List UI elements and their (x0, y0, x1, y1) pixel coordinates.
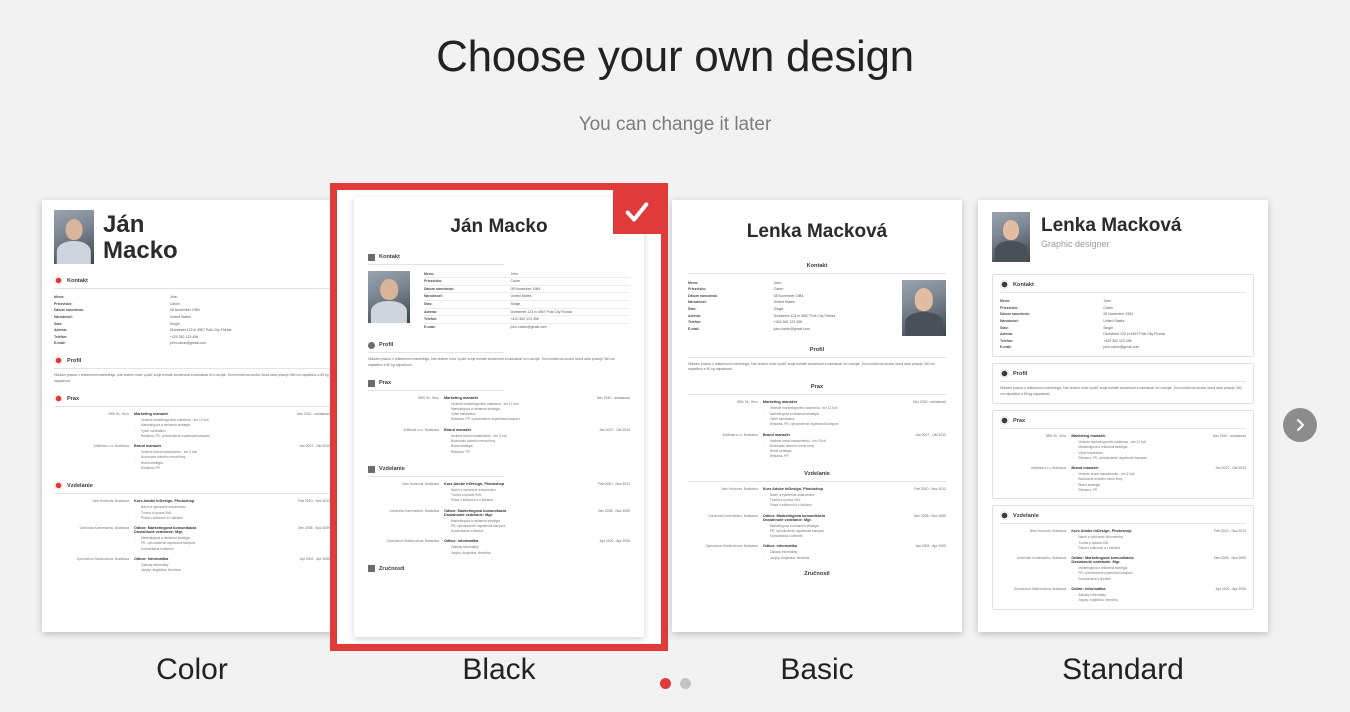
avatar (902, 280, 946, 336)
skills-icon (368, 565, 375, 572)
profile-icon (1000, 369, 1009, 378)
template-card-black[interactable]: Ján Macko Kontakt Meno:John Priezvisko:C… (330, 183, 668, 653)
contact-icon (54, 276, 63, 285)
contact-icon (1000, 280, 1009, 289)
section-header-kontakt: Kontakt (688, 263, 946, 269)
education-item: Gymnázium Sládkovičova, Bratislava Odbor… (688, 544, 946, 561)
divider (1000, 292, 1246, 293)
divider (368, 264, 504, 265)
divider (368, 390, 504, 391)
experience-icon (368, 380, 375, 387)
resume-name: Lenka Macková (672, 200, 962, 243)
section-header-vzdelanie: Vzdelanie (1000, 511, 1246, 520)
profile-icon (54, 356, 63, 365)
section-header-kontakt: Kontakt (1000, 280, 1246, 289)
resume-preview-color[interactable]: Ján Macko Kontakt Meno:John Priezvisko:C… (42, 200, 342, 632)
avatar (54, 210, 94, 264)
divider (1000, 428, 1246, 429)
chevron-right-icon (1292, 417, 1308, 433)
education-icon (368, 466, 375, 473)
education-item: New Horizonts, Bratislava Kurz Adobe InD… (368, 482, 630, 504)
experience-item: ArtMedia s.r.o, Bratislava Brand manažér… (1000, 466, 1246, 493)
education-icon (1000, 511, 1009, 520)
section-header-zrucnosti: Zručnosti (368, 565, 630, 572)
section-header-profil: Profil (368, 342, 630, 349)
pagination-dot-2[interactable] (680, 678, 691, 689)
template-card-color[interactable]: Ján Macko Kontakt Meno:John Priezvisko:C… (42, 183, 342, 653)
experience-icon (54, 394, 63, 403)
section-header-prax: Prax (368, 380, 630, 387)
section-header-vzdelanie: Vzdelanie (688, 471, 946, 477)
experience-item: BBN Sk., Brno Marketing manažér Vedenie … (1000, 434, 1246, 461)
page-title: Choose your own design (0, 32, 1350, 82)
contact-table: Meno:John Priezvisko:Calvin Dátum narode… (688, 280, 892, 333)
divider (688, 394, 946, 395)
education-item: New Horizonts, Bratislava Kurz Adobe InD… (688, 487, 946, 509)
contact-table: Meno:John Priezvisko:Calvin Dátum narode… (1000, 298, 1246, 351)
profile-box: Profil Hľadám pracou v reklamnom marketi… (992, 363, 1254, 404)
section-header-prax: Prax (1000, 416, 1246, 425)
divider (54, 406, 330, 407)
experience-item: ArtMedia s.r.o, Bratislava Brand manažér… (54, 444, 330, 471)
section-header-kontakt: Kontakt (54, 276, 330, 285)
resume-name: Ján Macko (103, 210, 178, 264)
carousel-next-button[interactable] (1283, 408, 1317, 442)
resume-preview-standard[interactable]: Lenka Macková Graphic designer Kontakt M… (978, 200, 1268, 632)
divider (688, 481, 946, 482)
contact-table: Meno:John Priezvisko:Calvin Dátum narode… (54, 294, 330, 347)
section-header-kontakt: Kontakt (368, 254, 630, 261)
profile-text: Hľadám pracou v reklamnom marketingu, kd… (368, 357, 630, 369)
experience-item: BBN Sk., Brno Marketing manažér Vedenie … (688, 400, 946, 427)
divider (54, 493, 330, 494)
resume-job-title: Graphic designer (1041, 239, 1181, 249)
education-box: Vzdelanie New Horizonts, Bratislava Kurz… (992, 505, 1254, 609)
design-chooser-page: Choose your own design You can change it… (0, 0, 1350, 712)
experience-box: Prax BBN Sk., Brno Marketing manažér Ved… (992, 410, 1254, 499)
template-card-basic[interactable]: Lenka Macková Kontakt Meno:John Priezvis… (672, 183, 962, 653)
profile-text: Hľadám pracou v reklamnom marketingu, kd… (1000, 386, 1246, 398)
education-item: Univerzita Komenského, Bratislava Odbor:… (54, 526, 330, 552)
selected-checkmark-badge (613, 190, 661, 234)
profile-text: Hľadám pracou v reklamnom marketingu, kd… (54, 373, 330, 385)
resume-name: Lenka Macková (1041, 216, 1181, 237)
divider (54, 288, 330, 289)
section-header-vzdelanie: Vzdelanie (54, 481, 330, 490)
section-header-vzdelanie: Vzdelanie (368, 466, 630, 473)
experience-item: BBN Sk., Brno Marketing manažér Vedenie … (368, 396, 630, 423)
education-item: Gymnázium Sládkovičova, Bratislava Odbor… (368, 539, 630, 556)
divider (54, 368, 330, 369)
education-item: New Horizonts, Bratislava Kurz Adobe InD… (1000, 529, 1246, 551)
divider (1000, 381, 1246, 382)
resume-preview-black[interactable]: Ján Macko Kontakt Meno:John Priezvisko:C… (354, 197, 644, 637)
divider (1000, 523, 1246, 524)
education-item: Univerzita Komenského, Bratislava Odbor:… (688, 514, 946, 540)
avatar (368, 271, 410, 323)
carousel-pagination (0, 678, 1350, 689)
experience-item: BBN Sk., Brno Marketing manažér Vedenie … (54, 412, 330, 439)
template-card-standard[interactable]: Lenka Macková Graphic designer Kontakt M… (978, 183, 1278, 653)
contact-icon (368, 254, 375, 261)
divider (688, 357, 946, 358)
resume-preview-basic[interactable]: Lenka Macková Kontakt Meno:John Priezvis… (672, 200, 962, 632)
contact-box: Kontakt Meno:John Priezvisko:Calvin Dátu… (992, 274, 1254, 357)
section-header-prax: Prax (688, 384, 946, 390)
education-item: Univerzita Komenského, Bratislava Odbor:… (368, 509, 630, 535)
profile-text: Hľadám pracou v reklamnom marketingu, kd… (688, 362, 946, 374)
experience-item: ArtMedia s.r.o, Bratislava Brand manažér… (368, 428, 630, 455)
divider (368, 476, 504, 477)
section-header-profil: Profil (1000, 369, 1246, 378)
education-item: Gymnázium Sládkovičova, Bratislava Odbor… (1000, 587, 1246, 604)
section-header-zrucnosti: Zručnosti (688, 571, 946, 577)
divider (368, 352, 504, 353)
divider (688, 273, 946, 274)
avatar (992, 212, 1030, 262)
education-item: Gymnázium Sládkovičova, Bratislava Odbor… (54, 557, 330, 574)
pagination-dot-1[interactable] (660, 678, 671, 689)
education-item: Univerzita Komenského, Bratislava Odbor:… (1000, 556, 1246, 582)
section-header-profil: Profil (54, 356, 330, 365)
education-item: New Horizonts, Bratislava Kurz Adobe InD… (54, 499, 330, 521)
template-carousel: Ján Macko Kontakt Meno:John Priezvisko:C… (0, 183, 1350, 653)
section-header-prax: Prax (54, 394, 330, 403)
check-icon (623, 198, 651, 226)
section-header-profil: Profil (688, 347, 946, 353)
resume-name: Ján Macko (354, 197, 644, 238)
experience-icon (1000, 416, 1009, 425)
profile-icon (368, 342, 375, 349)
page-subtitle: You can change it later (0, 114, 1350, 136)
education-icon (54, 481, 63, 490)
experience-item: ArtMedia s.r.o, Bratislava Brand manažér… (688, 433, 946, 460)
contact-table: Meno:John Priezvisko:Calvin Dátum narode… (424, 271, 630, 331)
